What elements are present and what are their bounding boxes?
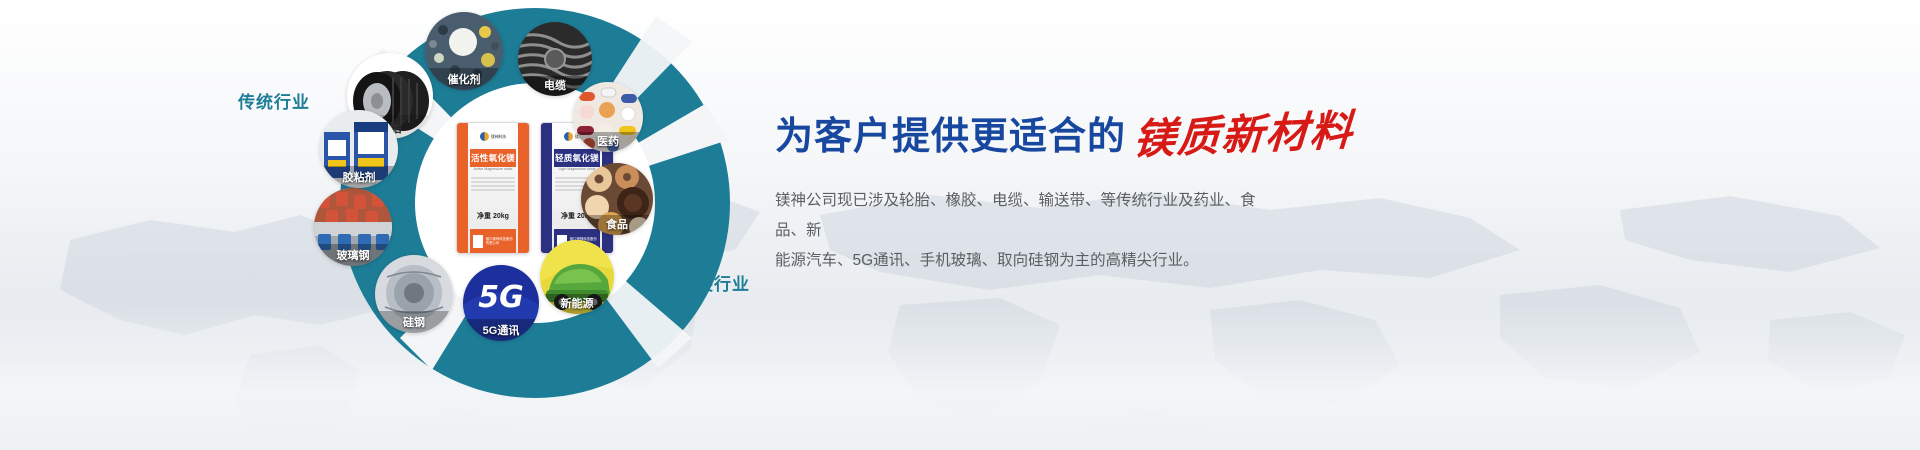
hero-headline: 为客户提供更适合的 镁质新材料 [775,105,1535,160]
bag-net-weight-left: 净重 20kg [457,211,529,221]
hero-banner: 镁神科技 活性氧化镁 Active Magnesium oxide 净重 20k… [0,0,1920,450]
node-food[interactable]: 食品 [581,163,653,235]
bag-company-left: 营口镁神科技股份有限公司 [486,237,516,246]
industry-wheel-diagram: 镁神科技 活性氧化镁 Active Magnesium oxide 净重 20k… [300,0,820,450]
headline-red-calligraphy: 镁质新材料 [1132,112,1355,160]
node-label-5g: 5G通讯 [463,325,539,341]
node-adhesive[interactable]: 胶粘剂 [320,110,398,188]
node-silicon-steel[interactable]: 硅钢 [375,255,453,333]
node-catalyst[interactable]: 催化剂 [425,12,503,90]
node-frp[interactable]: 玻璃钢 [314,188,392,266]
node-label-catalyst: 催化剂 [425,74,503,90]
body-line-1: 镁神公司现已涉及轮胎、橡胶、电缆、输送带、等传统行业及药业、食品、新 [775,186,1275,246]
svg-text:5G: 5G [478,280,524,315]
body-line-2: 能源汽车、5G通讯、手机玻璃、取向硅钢为主的高精尖行业。 [775,246,1275,276]
bottom-haze [0,300,1920,450]
product-bag-active-magnesium-oxide: 镁神科技 活性氧化镁 Active Magnesium oxide 净重 20k… [456,122,530,254]
node-label-new-energy: 新能源 [540,298,614,314]
section-label-traditional: 传统行业 [238,88,310,113]
node-label-frp: 玻璃钢 [314,250,392,266]
node-new-energy[interactable]: 新能源 [540,240,614,314]
node-label-adhesive: 胶粘剂 [320,172,398,188]
bag-name-en-left: Active Magnesium oxide [470,167,516,171]
node-label-medicine: 医药 [573,136,643,152]
section-label-hitech: 高精尖行业 [660,270,750,295]
node-5g[interactable]: 5G 5G通讯 [463,265,539,341]
headline-blue-text: 为客户提供更适合的 [775,105,1126,160]
bag-brand-left: 镁神科技 [491,134,506,140]
node-label-food: 食品 [581,219,653,235]
node-medicine[interactable]: 医药 [573,82,643,152]
bag-name-left: 活性氧化镁 [470,149,516,167]
node-label-silicon-steel: 硅钢 [375,317,453,333]
hero-copy: 为客户提供更适合的 镁质新材料 镁神公司现已涉及轮胎、橡胶、电缆、输送带、等传统… [775,105,1535,276]
hero-body-copy: 镁神公司现已涉及轮胎、橡胶、电缆、输送带、等传统行业及药业、食品、新 能源汽车、… [775,186,1275,276]
